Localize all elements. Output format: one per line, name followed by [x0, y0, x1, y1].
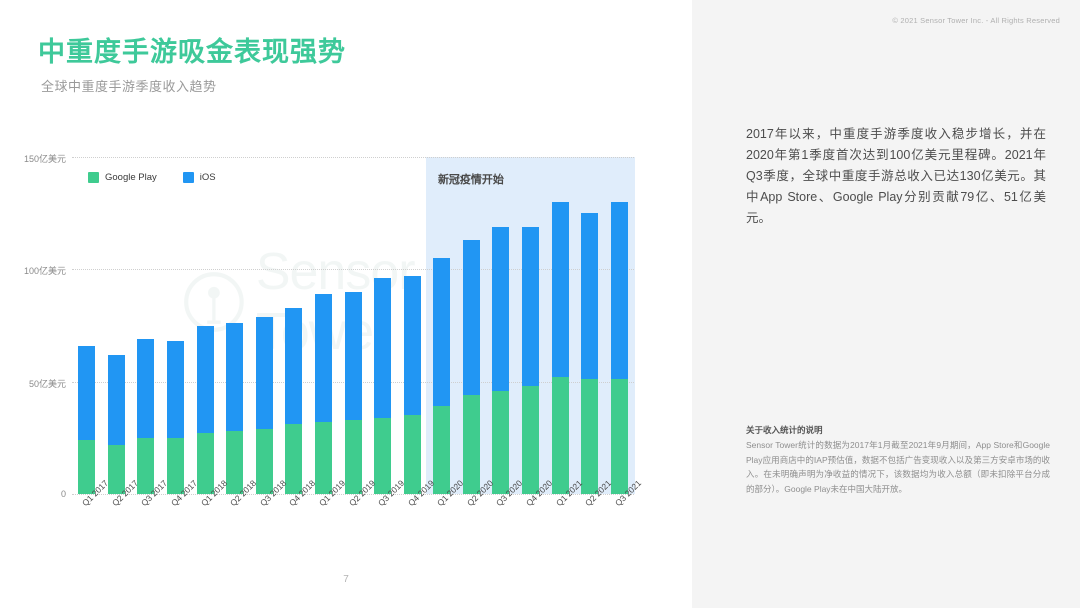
bar-segment-google-play — [433, 406, 450, 494]
revenue-chart: 新冠疫情开始 Sensor Tower Q1 2017Q2 2017Q3 201… — [0, 0, 692, 608]
bar-segment-ios — [197, 326, 214, 434]
bar-q1-2018[interactable] — [197, 326, 214, 494]
bar-q2-2020[interactable] — [463, 240, 480, 494]
legend-swatch — [88, 172, 99, 183]
bar-segment-google-play — [137, 438, 154, 494]
y-axis-tick-label: 150亿美元 — [0, 152, 66, 165]
bar-q2-2019[interactable] — [345, 292, 362, 494]
bar-segment-google-play — [611, 379, 628, 494]
y-axis-tick-label: 100亿美元 — [0, 264, 66, 277]
bar-segment-google-play — [463, 395, 480, 494]
legend-label: iOS — [200, 172, 216, 183]
bar-q4-2020[interactable] — [522, 227, 539, 494]
bar-segment-google-play — [552, 377, 569, 494]
bar-segment-google-play — [78, 440, 95, 494]
bar-q1-2021[interactable] — [552, 202, 569, 494]
bar-segment-ios — [404, 276, 421, 415]
y-axis-tick-label: 0 — [0, 489, 66, 499]
bar-q2-2021[interactable] — [581, 213, 598, 494]
left-content-panel: 中重度手游吸金表现强势 全球中重度手游季度收入趋势 新冠疫情开始 Sensor … — [0, 0, 692, 608]
bar-segment-ios — [492, 227, 509, 391]
bar-segment-google-play — [108, 445, 125, 494]
bar-segment-ios — [552, 202, 569, 377]
bar-segment-google-play — [167, 438, 184, 494]
bar-segment-google-play — [522, 386, 539, 494]
legend-item-google-play[interactable]: Google Play — [88, 172, 157, 183]
chart-legend: Google PlayiOS — [88, 172, 216, 183]
bar-segment-ios — [285, 308, 302, 425]
right-sidebar-panel: © 2021 Sensor Tower Inc. - All Rights Re… — [692, 0, 1080, 608]
bar-q4-2017[interactable] — [167, 341, 184, 494]
bar-segment-google-play — [345, 420, 362, 494]
chart-plot-area: 新冠疫情开始 Sensor Tower Q1 2017Q2 2017Q3 201… — [72, 157, 634, 494]
bar-q4-2018[interactable] — [285, 308, 302, 494]
bar-segment-google-play — [315, 422, 332, 494]
bar-segment-google-play — [404, 415, 421, 494]
bar-segment-ios — [463, 240, 480, 395]
y-axis-tick-label: 50亿美元 — [0, 377, 66, 390]
bar-q3-2017[interactable] — [137, 339, 154, 494]
bar-segment-google-play — [492, 391, 509, 494]
bar-q2-2017[interactable] — [108, 355, 125, 494]
bar-q2-2018[interactable] — [226, 323, 243, 494]
bar-segment-ios — [167, 341, 184, 438]
bar-segment-ios — [108, 355, 125, 445]
copyright-notice: © 2021 Sensor Tower Inc. - All Rights Re… — [892, 16, 1060, 25]
slide: 中重度手游吸金表现强势 全球中重度手游季度收入趋势 新冠疫情开始 Sensor … — [0, 0, 1080, 608]
bar-q3-2019[interactable] — [374, 278, 391, 494]
bar-q3-2018[interactable] — [256, 317, 273, 494]
bar-q3-2021[interactable] — [611, 202, 628, 494]
bar-segment-ios — [522, 227, 539, 387]
bar-q1-2017[interactable] — [78, 346, 95, 494]
bar-segment-ios — [315, 294, 332, 422]
bar-segment-ios — [137, 339, 154, 438]
bar-q3-2020[interactable] — [492, 227, 509, 494]
legend-label: Google Play — [105, 172, 157, 183]
bar-segment-google-play — [374, 418, 391, 494]
bar-segment-ios — [345, 292, 362, 420]
bar-q4-2019[interactable] — [404, 276, 421, 494]
chart-bars — [72, 157, 634, 494]
legend-item-ios[interactable]: iOS — [183, 172, 216, 183]
bar-segment-ios — [611, 202, 628, 379]
bar-segment-ios — [256, 317, 273, 429]
bar-segment-ios — [78, 346, 95, 440]
bar-q1-2019[interactable] — [315, 294, 332, 494]
footnote-title: 关于收入统计的说明 — [746, 424, 1046, 436]
bar-segment-ios — [226, 323, 243, 431]
page-number: 7 — [0, 574, 692, 585]
bar-segment-ios — [374, 278, 391, 417]
footnote-body: Sensor Tower统计的数据为2017年1月截至2021年9月期间，App… — [746, 438, 1050, 496]
bar-segment-ios — [433, 258, 450, 406]
bar-q1-2020[interactable] — [433, 258, 450, 494]
insight-body-text: 2017年以来，中重度手游季度收入稳步增长，并在2020年第1季度首次达到100… — [746, 124, 1046, 229]
legend-swatch — [183, 172, 194, 183]
bar-segment-ios — [581, 213, 598, 379]
bar-segment-google-play — [581, 379, 598, 494]
